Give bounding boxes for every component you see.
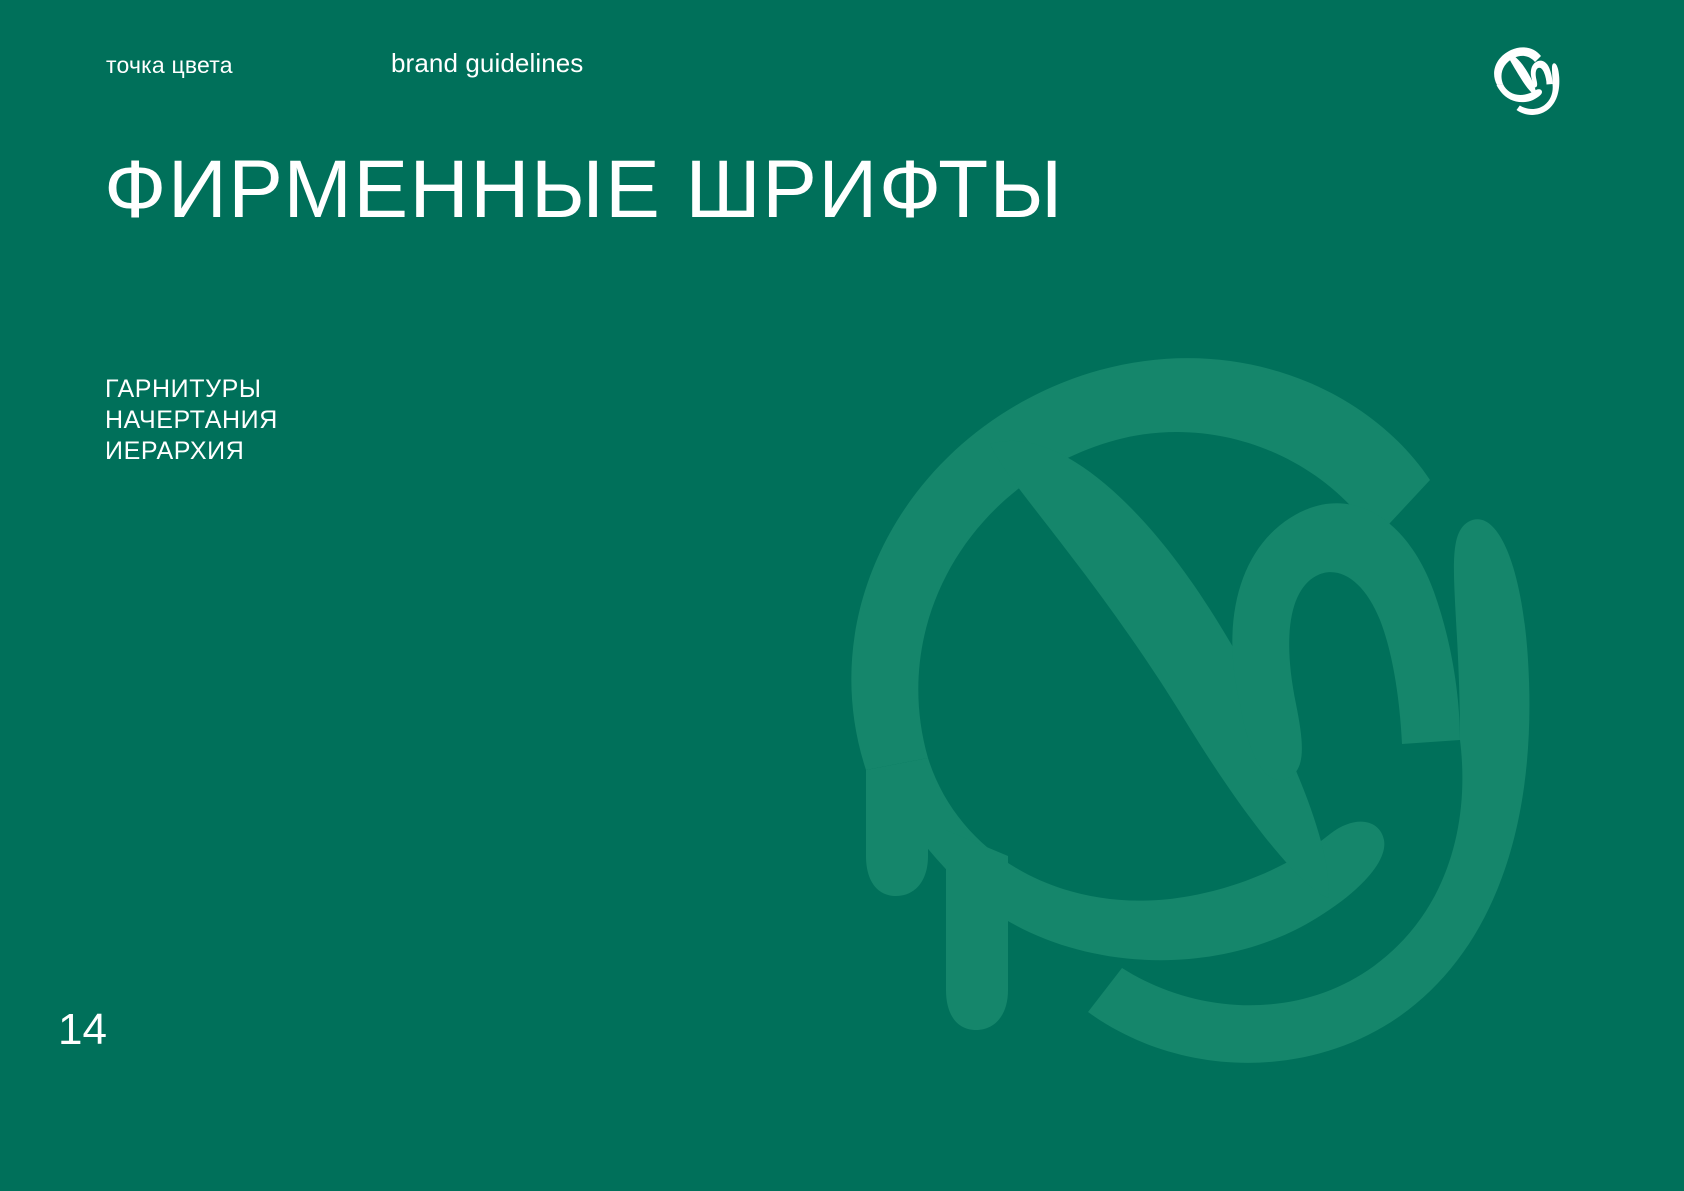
slide-header: точка цвета brand guidelines — [0, 0, 1684, 140]
slide: точка цвета brand guidelines ФИРМЕННЫЕ Ш… — [0, 0, 1684, 1191]
brand-name: точка цвета — [106, 52, 233, 80]
agenda-list: ГАРНИТУРЫ НАЧЕРТАНИЯ ИЕРАРХИЯ — [105, 374, 278, 467]
page-title: ФИРМЕННЫЕ ШРИФТЫ — [104, 146, 1064, 235]
agenda-item: НАЧЕРТАНИЯ — [105, 405, 278, 436]
agenda-item: ИЕРАРХИЯ — [105, 436, 278, 467]
page-number: 14 — [58, 1008, 107, 1052]
agenda-item: ГАРНИТУРЫ — [105, 374, 278, 405]
leaf-heart-logo-icon — [1487, 44, 1563, 116]
document-kicker: brand guidelines — [391, 48, 583, 79]
leaf-heart-watermark-icon — [770, 300, 1530, 1060]
